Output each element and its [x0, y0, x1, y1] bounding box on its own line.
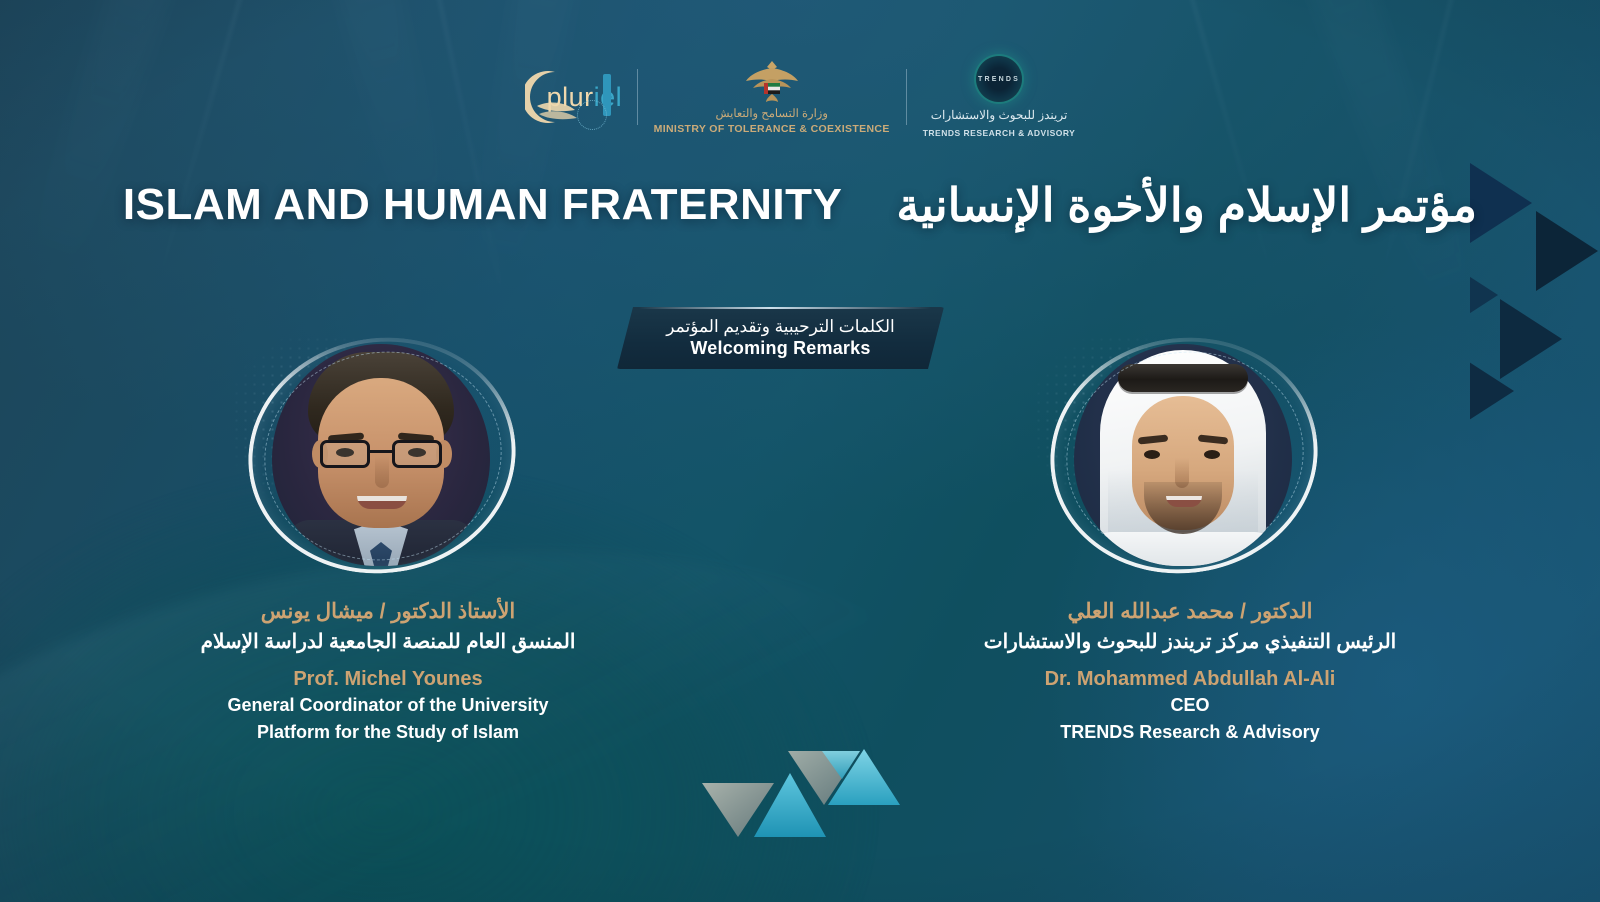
speaker-role-english-line1: General Coordinator of the University	[68, 693, 708, 717]
trends-logo: TRENDS تريندز للبحوث والاستشارات TRENDS …	[923, 56, 1076, 138]
speaker-name-english: Dr. Mohammed Abdullah Al-Ali	[870, 668, 1510, 691]
speaker-name-arabic: الدكتور / محمد عبدالله العلي	[870, 598, 1510, 626]
speaker-role-english-line1: CEO	[870, 693, 1510, 717]
uae-falcon-emblem-icon	[743, 59, 801, 103]
speaker-role-arabic: المنسق العام للمنصة الجامعية لدراسة الإس…	[68, 628, 708, 656]
pluriel-logo: pluriel	[525, 66, 621, 128]
ministry-english-name: MINISTRY OF TOLERANCE & COEXISTENCE	[654, 123, 890, 135]
conference-title-arabic: مؤتمر الإسلام والأخوة الإنسانية	[896, 178, 1477, 232]
logo-bar: pluriel وزارة التسامح والتعايش MINISTRY …	[0, 56, 1600, 138]
speaker-card-mohammed-al-ali: الدكتور / محمد عبدالله العلي الرئيس التن…	[870, 330, 1510, 744]
uae-ministry-logo: وزارة التسامح والتعايش MINISTRY OF TOLER…	[654, 59, 890, 135]
conference-title-english: ISLAM AND HUMAN FRATERNITY	[123, 180, 842, 230]
trends-mark-text: TRENDS	[978, 76, 1020, 83]
logo-divider-1	[637, 69, 638, 125]
speaker-portrait-michel-younes	[238, 330, 538, 580]
speaker-role-arabic: الرئيس التنفيذي مركز تريندز للبحوث والاس…	[870, 628, 1510, 656]
session-badge-english: Welcoming Remarks	[690, 338, 870, 359]
speaker-card-michel-younes: الأستاذ الدكتور / ميشال يونس المنسق العا…	[68, 330, 708, 744]
speaker-portrait-mohammed-al-ali	[1040, 330, 1340, 580]
trends-mark-icon: TRENDS	[976, 56, 1022, 102]
speaker-name-english: Prof. Michel Younes	[68, 668, 708, 691]
slide-canvas: pluriel وزارة التسامح والتعايش MINISTRY …	[0, 0, 1600, 902]
speaker-role-english-line2: TRENDS Research & Advisory	[870, 720, 1510, 744]
pluriel-dot-circle	[577, 100, 607, 130]
logo-divider-2	[906, 69, 907, 125]
conference-title: ISLAM AND HUMAN FRATERNITY مؤتمر الإسلام…	[0, 178, 1600, 232]
speaker-name-arabic: الأستاذ الدكتور / ميشال يونس	[68, 598, 708, 626]
ministry-arabic-name: وزارة التسامح والتعايش	[715, 106, 827, 120]
trends-english-name: TRENDS RESEARCH & ADVISORY	[923, 128, 1076, 138]
trends-arabic-name: تريندز للبحوث والاستشارات	[931, 108, 1068, 122]
speaker-role-english-line2: Platform for the Study of Islam	[68, 720, 708, 744]
